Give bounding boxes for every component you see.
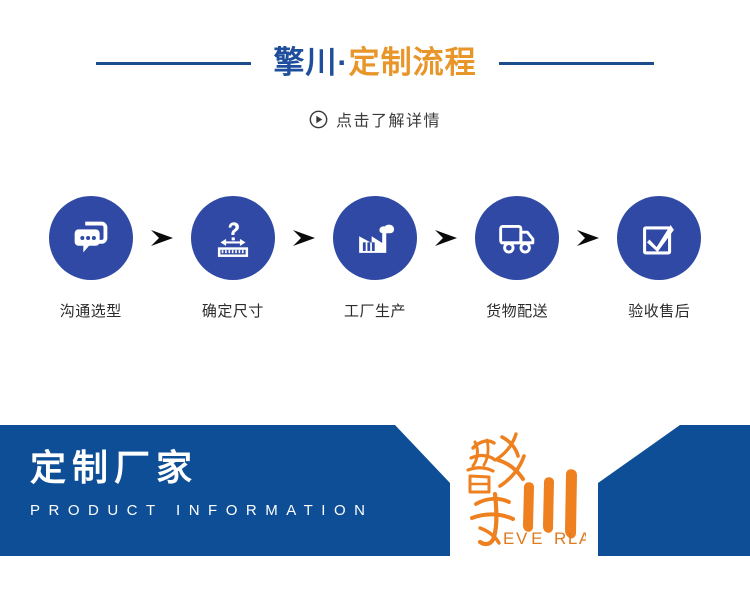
chevron-right-arrow-icon xyxy=(150,228,174,248)
svg-text:Ǝ: Ǝ xyxy=(530,529,543,548)
step-item-acceptance[interactable]: 验收售后 xyxy=(609,196,711,321)
section-header: 擎川·定制流程 xyxy=(0,46,750,80)
banner-text-block: 定制厂家 PRODUCT INFORMATION xyxy=(30,447,460,519)
step-item-production[interactable]: 工厂生产 xyxy=(324,196,426,321)
ruler-measure-question-icon xyxy=(208,213,258,263)
step-icon-circle xyxy=(333,196,417,280)
logo-wordmark: EV xyxy=(503,529,529,548)
step-arrow-separator xyxy=(284,196,325,280)
bottom-banner: 定制厂家 PRODUCT INFORMATION xyxy=(0,425,750,556)
banner-subtitle: PRODUCT INFORMATION xyxy=(30,502,460,519)
step-icon-circle xyxy=(191,196,275,280)
play-circle-icon xyxy=(309,110,328,129)
step-icon-circle xyxy=(617,196,701,280)
chat-bubbles-icon xyxy=(66,213,116,263)
step-arrow-separator xyxy=(568,196,609,280)
svg-text:RLA: RLA xyxy=(554,529,586,548)
step-icon-circle xyxy=(49,196,133,280)
brand-logo[interactable]: EV Ǝ RLA xyxy=(458,420,586,556)
logo-calligraphy-mark xyxy=(468,434,524,544)
page-title-secondary: 定制流程 xyxy=(349,45,477,80)
step-item-dimensions[interactable]: 确定尺寸 xyxy=(182,196,284,321)
header-subtitle-row[interactable]: 点击了解详情 xyxy=(0,107,750,131)
chevron-right-arrow-icon xyxy=(576,228,600,248)
chevron-right-arrow-icon xyxy=(292,228,316,248)
chevron-right-arrow-icon xyxy=(434,228,458,248)
step-label: 工厂生产 xyxy=(344,300,406,321)
step-label: 沟通选型 xyxy=(60,300,122,321)
header-subtitle-text: 点击了解详情 xyxy=(336,107,441,131)
step-arrow-separator xyxy=(142,196,183,280)
step-label: 货物配送 xyxy=(486,300,548,321)
step-item-delivery[interactable]: 货物配送 xyxy=(466,196,568,321)
delivery-truck-icon xyxy=(492,213,542,263)
banner-title: 定制厂家 xyxy=(30,447,460,488)
step-label: 确定尺寸 xyxy=(202,300,264,321)
factory-icon xyxy=(350,213,400,263)
page-title: 擎川·定制流程 xyxy=(273,46,476,80)
process-steps: 沟通选型 xyxy=(40,196,710,321)
checkmark-box-icon xyxy=(634,213,684,263)
promo-page: 擎川·定制流程 点击了解详情 xyxy=(0,0,750,595)
step-item-communication[interactable]: 沟通选型 xyxy=(40,196,142,321)
page-title-primary: 擎川· xyxy=(273,45,348,80)
header-rule-right xyxy=(499,62,654,65)
step-label: 验收售后 xyxy=(628,300,690,321)
step-arrow-separator xyxy=(426,196,467,280)
header-rule-left xyxy=(96,62,251,65)
step-icon-circle xyxy=(475,196,559,280)
